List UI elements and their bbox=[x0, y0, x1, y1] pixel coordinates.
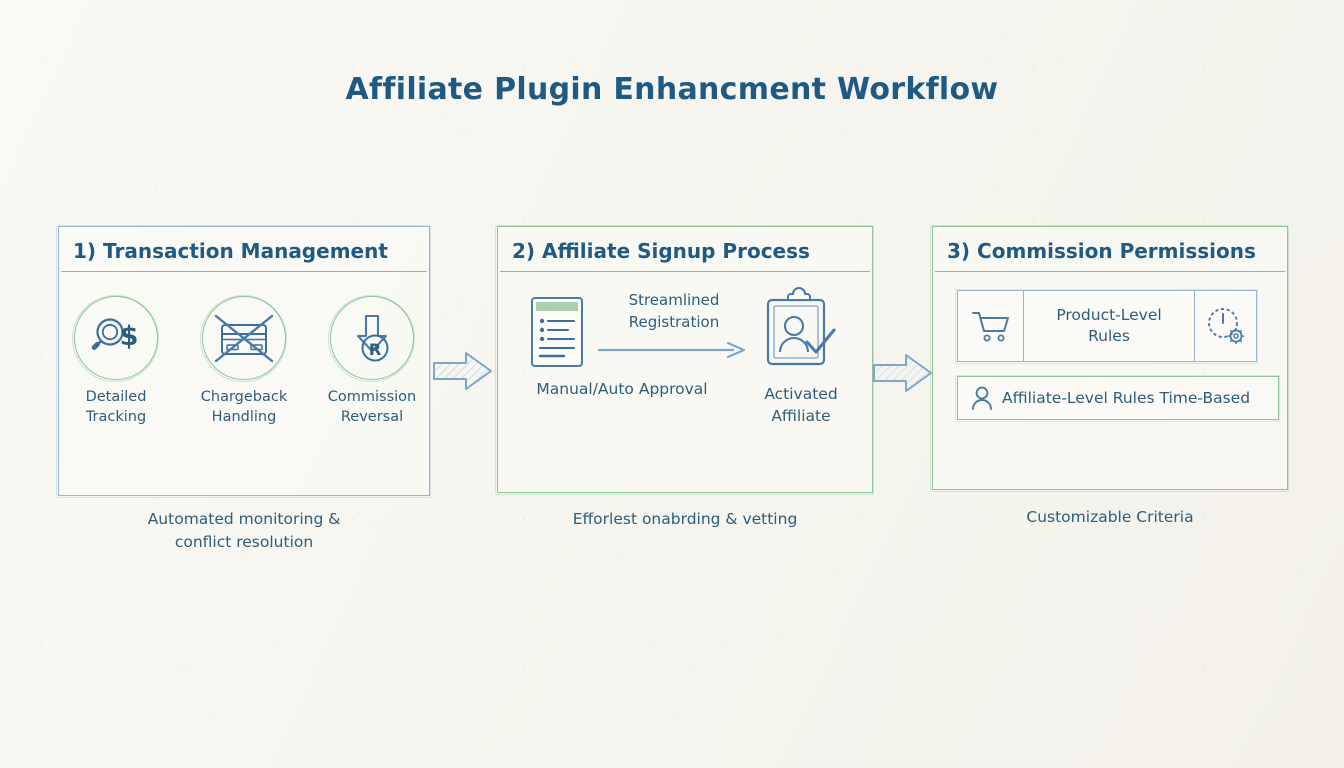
caption-affiliate-signup-process: Efforlest onabrding & vetting bbox=[497, 508, 873, 531]
transaction-icon-row: $ Detailed Tracking bbox=[59, 296, 429, 427]
block-arrow-right-icon bbox=[872, 350, 934, 396]
panel-1-body: $ Detailed Tracking bbox=[59, 272, 429, 482]
item-label-line1: Detailed bbox=[68, 388, 164, 408]
caption-line-1: Automated monitoring & bbox=[58, 508, 430, 531]
clock-gear-cell bbox=[1194, 291, 1256, 361]
panel-1-header: 1) Transaction Management bbox=[59, 227, 429, 271]
source-node[interactable] bbox=[528, 294, 586, 370]
flow-arrow-label-line2: Registration bbox=[594, 312, 754, 334]
panel-affiliate-signup-process: 2) Affiliate Signup Process bbox=[497, 226, 873, 493]
svg-text:R: R bbox=[369, 340, 381, 359]
svg-text:$: $ bbox=[120, 321, 139, 352]
item-label: Detailed Tracking bbox=[68, 388, 164, 427]
panel-transaction-management: 1) Transaction Management $ bbox=[58, 226, 430, 496]
person-icon bbox=[970, 385, 994, 411]
clipboard-person-check-icon bbox=[760, 290, 838, 372]
item-label-line2: Tracking bbox=[68, 408, 164, 428]
item-label-line2: Handling bbox=[196, 408, 292, 428]
item-commission-reversal[interactable]: R Commission Reversal bbox=[324, 296, 420, 427]
target-node-label-line1: Activated bbox=[736, 384, 866, 406]
icon-circle: R bbox=[330, 296, 414, 380]
item-label: Commission Reversal bbox=[324, 388, 420, 427]
arrow-panel1-to-panel2 bbox=[432, 348, 494, 394]
item-label-line1: Commission bbox=[324, 388, 420, 408]
flow-arrow-icon-wrap bbox=[598, 342, 748, 356]
block-arrow-right-icon bbox=[432, 348, 494, 394]
item-chargeback-handling[interactable]: Chargeback Handling bbox=[196, 296, 292, 427]
item-detailed-tracking[interactable]: $ Detailed Tracking bbox=[68, 296, 164, 427]
caption-transaction-management: Automated monitoring & conflict resoluti… bbox=[58, 508, 430, 555]
panel-2-header: 2) Affiliate Signup Process bbox=[498, 227, 872, 271]
card-label-line2: Rules bbox=[1056, 326, 1161, 347]
arrow-down-registered-icon: R bbox=[345, 310, 399, 366]
caption-commission-permissions: Customizable Criteria bbox=[932, 506, 1288, 529]
card-affiliate-level-rules[interactable]: Affiliate-Level Rules Time-Based bbox=[957, 376, 1279, 420]
panel-3-body: Product-Level Rules bbox=[933, 272, 1287, 476]
magnifier-dollar-icon: $ bbox=[89, 311, 143, 365]
target-node[interactable] bbox=[760, 290, 838, 372]
flow-arrow-label-line1: Streamlined bbox=[594, 290, 754, 312]
target-node-label-line2: Affiliate bbox=[736, 406, 866, 428]
icon-circle: $ bbox=[74, 296, 158, 380]
clock-gear-icon bbox=[1205, 306, 1247, 346]
item-label-line1: Chargeback bbox=[196, 388, 292, 408]
form-document-icon bbox=[528, 294, 586, 370]
target-node-label: Activated Affiliate bbox=[736, 384, 866, 427]
panel-3-header: 3) Commission Permissions bbox=[933, 227, 1287, 271]
cart-cell bbox=[958, 291, 1024, 361]
arrow-panel2-to-panel3 bbox=[872, 350, 934, 396]
caption-line-2: conflict resolution bbox=[58, 531, 430, 554]
icon-circle bbox=[202, 296, 286, 380]
page-title: Affiliate Plugin Enhancment Workflow bbox=[0, 72, 1344, 107]
item-label-line2: Reversal bbox=[324, 408, 420, 428]
item-label: Chargeback Handling bbox=[196, 388, 292, 427]
card-crossed-out-icon bbox=[213, 311, 275, 365]
card-label-line1: Product-Level bbox=[1056, 305, 1161, 326]
card-label: Product-Level Rules bbox=[1024, 291, 1194, 361]
panel-commission-permissions: 3) Commission Permissions Product-Level … bbox=[932, 226, 1288, 490]
card-label: Affiliate-Level Rules Time-Based bbox=[1002, 389, 1250, 407]
arrow-right-icon bbox=[598, 342, 748, 358]
diagram-canvas: Affiliate Plugin Enhancment Workflow 1) … bbox=[0, 0, 1344, 768]
shopping-cart-icon bbox=[971, 309, 1011, 343]
card-product-level-rules[interactable]: Product-Level Rules bbox=[957, 290, 1257, 362]
source-node-label: Manual/Auto Approval bbox=[512, 380, 732, 398]
panel-2-body: Streamlined Registration bbox=[498, 272, 872, 479]
flow-arrow-label: Streamlined Registration bbox=[594, 290, 754, 334]
